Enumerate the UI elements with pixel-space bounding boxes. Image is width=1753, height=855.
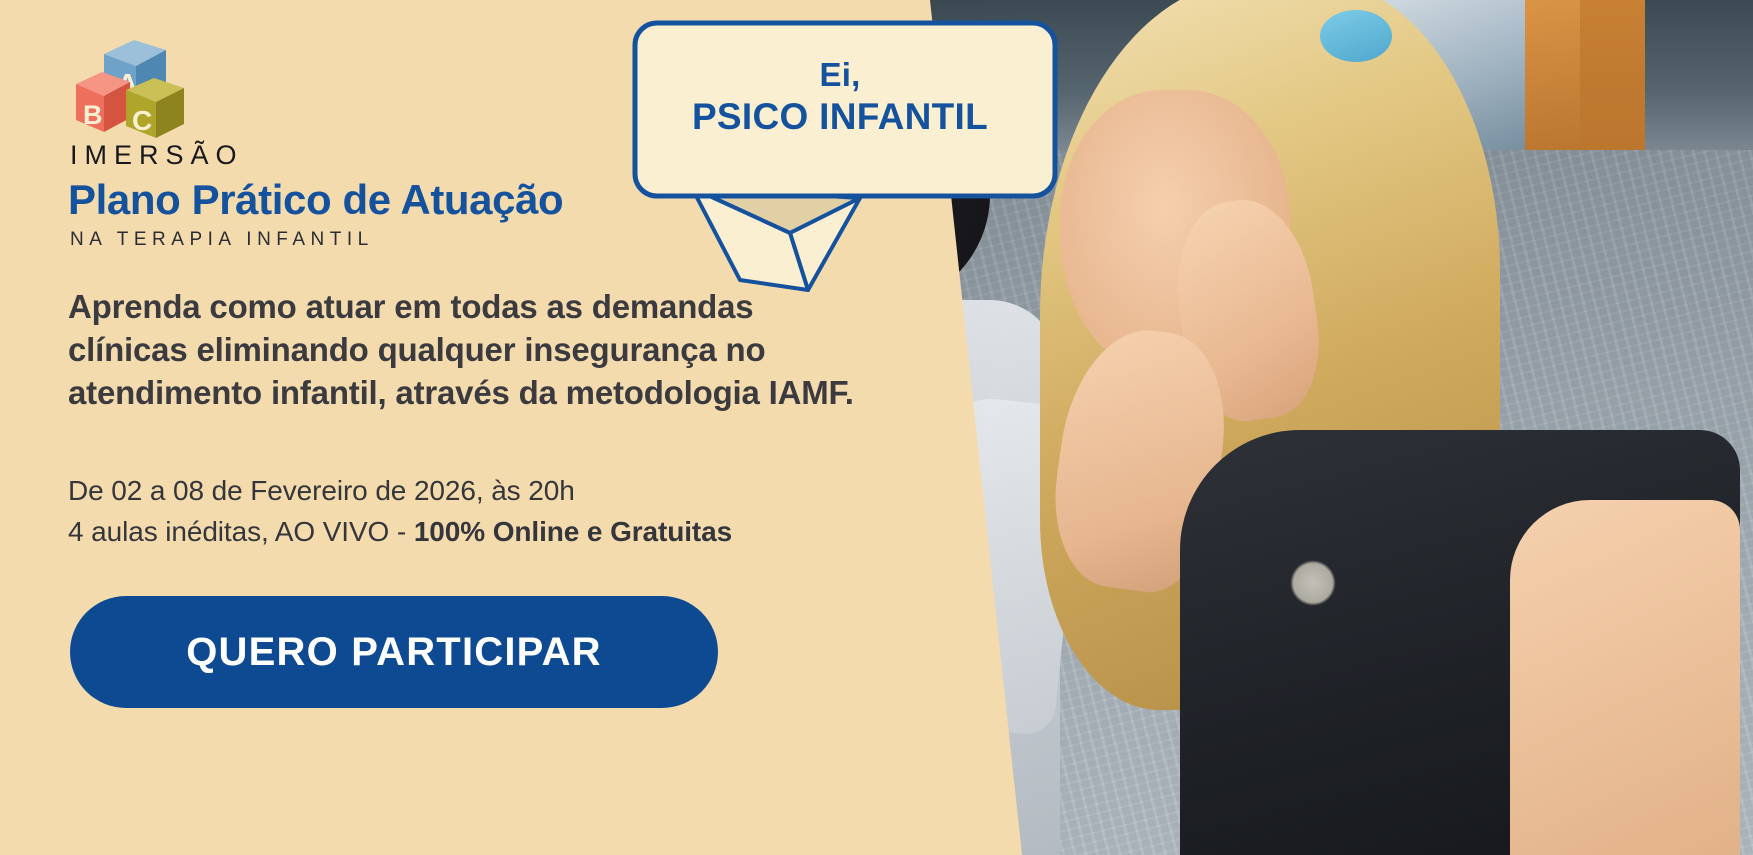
svg-text:C: C (132, 105, 152, 136)
schedule-classes-prefix: 4 aulas inéditas, AO VIVO - (68, 516, 414, 547)
schedule-classes-highlight: 100% Online e Gratuitas (414, 516, 732, 547)
abc-blocks-logo: A B C (72, 28, 188, 140)
promotional-banner: A B C IMERSÃO Plano Prático de (0, 0, 1753, 855)
schedule-line-date: De 02 a 08 de Fevereiro de 2026, às 20h (68, 470, 928, 511)
kicker-imersao: IMERSÃO (70, 140, 244, 171)
schedule-block: De 02 a 08 de Fevereiro de 2026, às 20h … (68, 470, 928, 553)
speech-bubble-shape (630, 18, 1060, 298)
page-title: Plano Prático de Atuação (68, 176, 563, 224)
lede-paragraph: Aprenda como atuar em todas as demandas … (68, 286, 858, 415)
subkicker-na-terapia-infantil: NA TERAPIA INFANTIL (70, 229, 374, 251)
block-b-icon: B (76, 72, 130, 132)
block-c-icon: C (126, 78, 184, 138)
quero-participar-button[interactable]: QUERO PARTICIPAR (70, 596, 718, 708)
abc-blocks-svg: A B C (72, 28, 188, 140)
schedule-line-classes: 4 aulas inéditas, AO VIVO - 100% Online … (68, 511, 928, 552)
svg-text:B: B (83, 100, 103, 130)
speech-bubble: Ei, PSICO INFANTIL (630, 18, 1060, 298)
